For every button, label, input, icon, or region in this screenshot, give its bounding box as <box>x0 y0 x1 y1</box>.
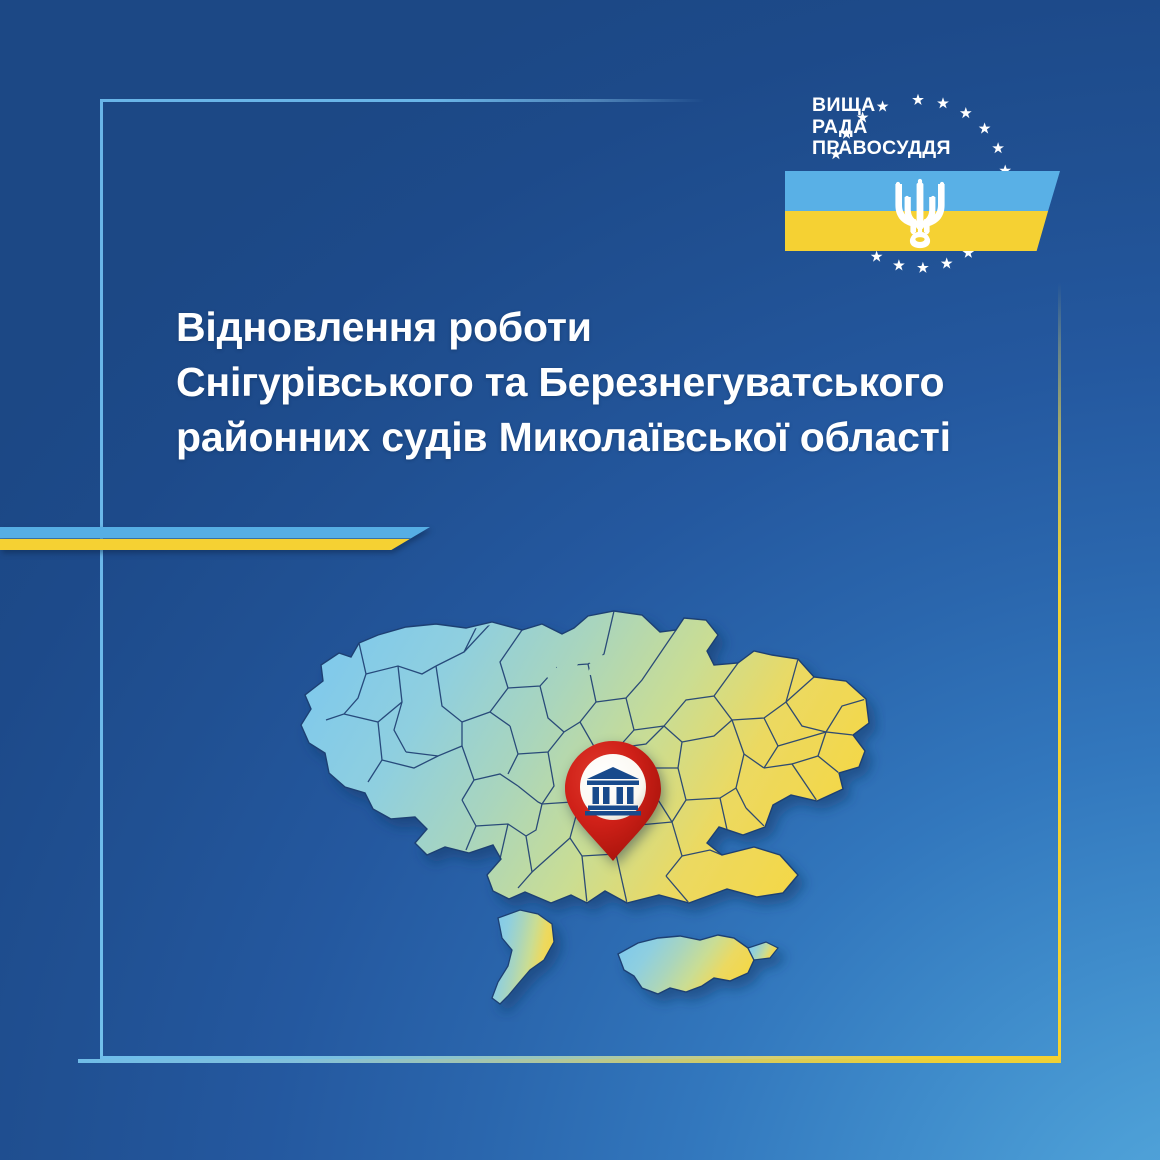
page-title: Відновлення роботи Снігурівського та Бер… <box>176 300 1036 465</box>
stripe-yellow-band <box>0 539 430 551</box>
stripe-blue-band <box>0 527 430 539</box>
map-pin-icon[interactable] <box>563 740 663 862</box>
ukraine-flag-banner <box>785 171 1060 251</box>
tryzub-icon <box>885 175 955 249</box>
court-location-pin[interactable] <box>563 740 663 862</box>
frame-top-line <box>100 99 704 102</box>
ukraine-flag-stripe <box>0 527 430 550</box>
frame-right-line <box>1058 283 1061 1059</box>
frame-left-line <box>100 99 103 1059</box>
poster-canvas: ВИЩА РАДА ПРАВОСУДДЯ Відновлення роботи … <box>0 0 1160 1160</box>
vrp-logo: ВИЩА РАДА ПРАВОСУДДЯ <box>780 86 1070 316</box>
frame-bottom-outer-line <box>78 1059 1061 1063</box>
vrp-logo-text: ВИЩА РАДА ПРАВОСУДДЯ <box>812 95 951 160</box>
